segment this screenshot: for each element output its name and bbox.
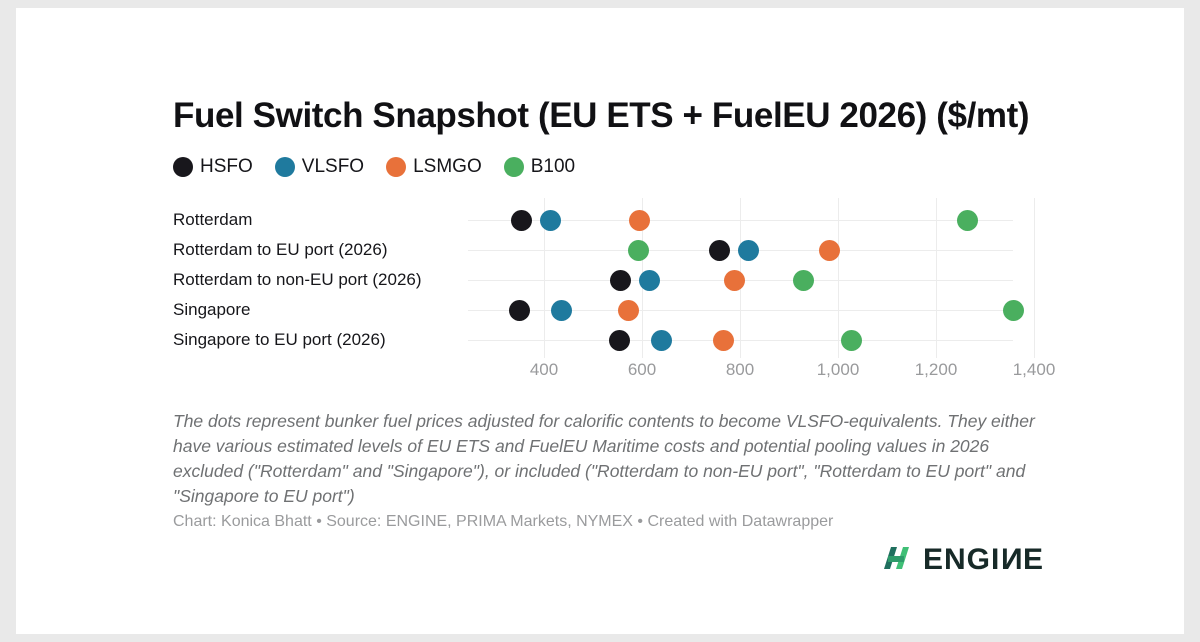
data-point-b100[interactable] [793, 270, 814, 291]
legend-swatch-lsmgo [386, 157, 406, 177]
category-label: Rotterdam [173, 211, 252, 228]
chart-legend: HSFO VLSFO LSMGO B100 [173, 156, 575, 178]
legend-label-b100: B100 [531, 156, 575, 178]
data-point-lsmgo[interactable] [629, 210, 650, 231]
data-point-hsfo[interactable] [609, 330, 630, 351]
legend-label-lsmgo: LSMGO [413, 156, 482, 178]
page-title: Fuel Switch Snapshot (EU ETS + FuelEU 20… [173, 96, 1029, 136]
x-axis-tick-label: 1,400 [1013, 360, 1056, 380]
data-point-b100[interactable] [1003, 300, 1024, 321]
data-point-lsmgo[interactable] [713, 330, 734, 351]
legend-label-hsfo: HSFO [200, 156, 253, 178]
logo-text-b: E [1023, 543, 1044, 576]
data-point-hsfo[interactable] [509, 300, 530, 321]
data-point-b100[interactable] [957, 210, 978, 231]
engine-logo: ENGINE [880, 543, 1044, 577]
x-axis-tick-label: 1,000 [817, 360, 860, 380]
data-point-vlsfo[interactable] [738, 240, 759, 261]
data-point-vlsfo[interactable] [651, 330, 672, 351]
gridline-vertical [838, 198, 839, 358]
chart-card: Fuel Switch Snapshot (EU ETS + FuelEU 20… [16, 8, 1184, 634]
chart-description: The dots represent bunker fuel prices ad… [173, 409, 1053, 508]
x-axis-tick-label: 400 [530, 360, 558, 380]
x-axis-tick-label: 600 [628, 360, 656, 380]
legend-item-hsfo[interactable]: HSFO [173, 156, 253, 178]
data-point-lsmgo[interactable] [724, 270, 745, 291]
chart-credit: Chart: Konica Bhatt • Source: ENGINE, PR… [173, 513, 833, 531]
data-point-vlsfo[interactable] [551, 300, 572, 321]
legend-label-vlsfo: VLSFO [302, 156, 364, 178]
data-point-lsmgo[interactable] [618, 300, 639, 321]
chart-plot-area: RotterdamRotterdam to EU port (2026)Rott… [173, 198, 1173, 383]
gridline-vertical [1034, 198, 1035, 358]
legend-item-lsmgo[interactable]: LSMGO [386, 156, 482, 178]
category-label: Rotterdam to non-EU port (2026) [173, 271, 422, 288]
data-point-lsmgo[interactable] [819, 240, 840, 261]
legend-item-b100[interactable]: B100 [504, 156, 575, 178]
category-label: Singapore to EU port (2026) [173, 331, 386, 348]
plot-grid [468, 198, 1028, 358]
logo-text-reversed-n: N [1000, 543, 1023, 577]
category-label: Rotterdam to EU port (2026) [173, 241, 387, 258]
logo-text-a: ENGI [923, 543, 1000, 576]
legend-item-vlsfo[interactable]: VLSFO [275, 156, 364, 178]
data-point-b100[interactable] [841, 330, 862, 351]
legend-swatch-hsfo [173, 157, 193, 177]
data-point-hsfo[interactable] [511, 210, 532, 231]
data-point-vlsfo[interactable] [639, 270, 660, 291]
data-point-vlsfo[interactable] [540, 210, 561, 231]
gridline-vertical [936, 198, 937, 358]
data-point-hsfo[interactable] [709, 240, 730, 261]
legend-swatch-vlsfo [275, 157, 295, 177]
engine-logo-text: ENGINE [923, 543, 1044, 577]
engine-mark-icon [880, 543, 914, 577]
data-point-b100[interactable] [628, 240, 649, 261]
x-axis-tick-label: 800 [726, 360, 754, 380]
x-axis-tick-label: 1,200 [915, 360, 958, 380]
data-point-hsfo[interactable] [610, 270, 631, 291]
category-label: Singapore [173, 301, 251, 318]
legend-swatch-b100 [504, 157, 524, 177]
